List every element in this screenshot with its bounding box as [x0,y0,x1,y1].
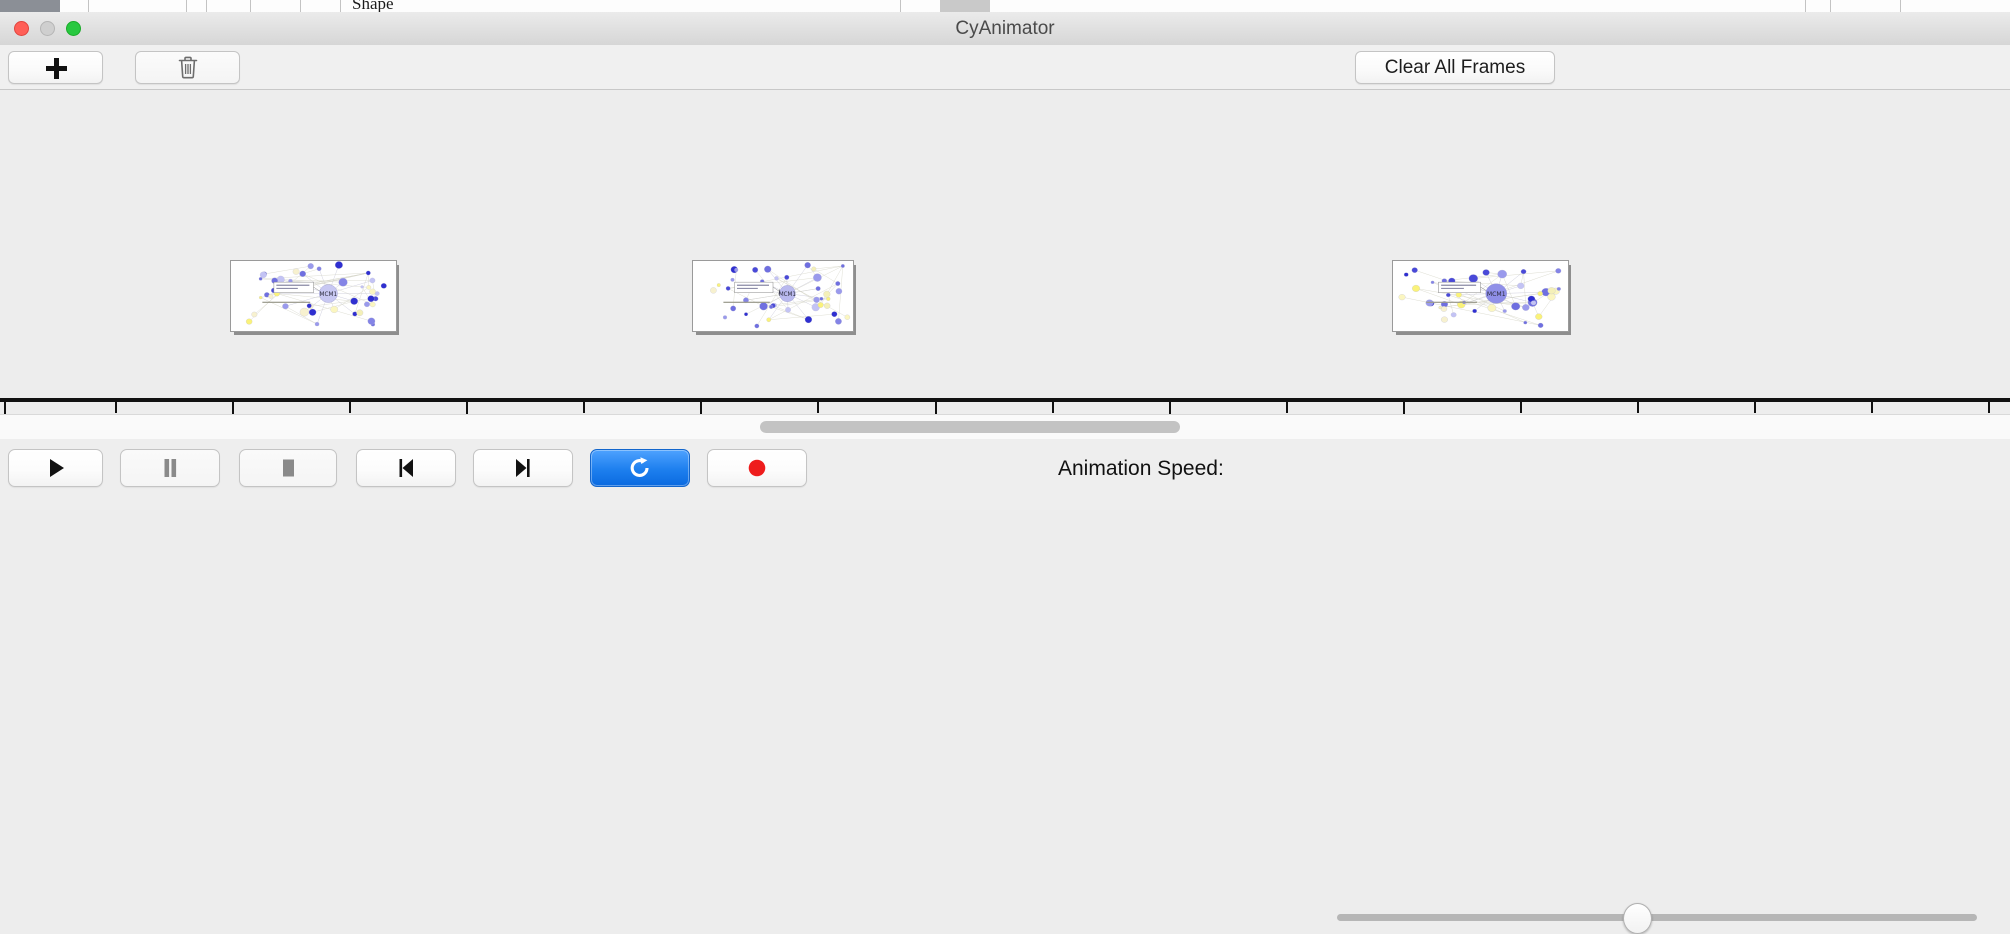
timeline-ruler [0,398,2010,402]
timeline-minor-tick [1637,402,1639,413]
timeline-minor-tick [1988,402,1990,413]
pause-icon [157,455,183,481]
timeline-minor-tick [349,402,351,413]
loop-button[interactable] [590,449,690,487]
skip-forward-icon [510,455,536,481]
animation-speed-slider-track[interactable] [1337,914,1977,921]
timeline-minor-tick [1052,402,1054,413]
svg-text:MCM1: MCM1 [779,292,796,298]
animation-speed-label: Animation Speed: [1058,457,1224,481]
frame-thumbnail[interactable]: MCM1 [692,260,852,330]
plus-icon [45,57,67,79]
stop-icon [275,455,301,481]
add-frame-button[interactable] [8,51,103,84]
timeline-minor-tick [115,402,117,413]
frame-thumbnail-image: MCM1 [230,260,397,332]
timeline-scrollbar-thumb[interactable] [760,421,1180,433]
frame-thumbnail[interactable]: MCM1 [230,260,395,330]
record-button[interactable] [707,449,807,487]
animation-speed-slider-thumb[interactable] [1623,903,1652,934]
playback-controls: Animation Speed: [0,439,2010,510]
timeline-minor-tick [817,402,819,413]
svg-text:MCM1: MCM1 [320,292,338,298]
timeline-panel[interactable]: MCM1MCM1MCM1 12131415161718 Seconds [0,90,2010,414]
frame-thumbnail[interactable]: MCM1 [1392,260,1567,330]
loop-icon [627,455,653,481]
timeline-minor-tick [583,402,585,413]
record-icon [744,455,770,481]
skip-to-start-button[interactable] [356,449,456,487]
skip-back-icon [393,455,419,481]
clear-all-frames-button[interactable]: Clear All Frames [1355,51,1555,84]
cyanimator-window: Shape CyAnimator Clear All Frames [0,0,2010,510]
timeline-scrollbar[interactable] [0,414,2010,440]
frame-thumbnail-image: MCM1 [692,260,854,332]
title-bar[interactable]: CyAnimator [0,12,2010,46]
timeline-minor-tick [1286,402,1288,413]
delete-frame-button[interactable] [135,51,240,84]
skip-to-end-button[interactable] [473,449,573,487]
stop-button [239,449,337,487]
timeline-minor-tick [1754,402,1756,413]
frame-thumbnail-image: MCM1 [1392,260,1569,332]
play-icon [43,455,69,481]
timeline-minor-tick [1871,402,1873,413]
timeline-minor-tick [1520,402,1522,413]
pause-button [120,449,220,487]
toolbar: Clear All Frames [0,45,2010,90]
window-title: CyAnimator [0,12,2010,45]
play-button[interactable] [8,449,103,487]
svg-text:MCM1: MCM1 [1487,292,1506,298]
trash-icon [177,55,199,80]
clear-all-frames-label: Clear All Frames [1385,57,1525,79]
background-window-tab-label: Shape [352,0,394,10]
